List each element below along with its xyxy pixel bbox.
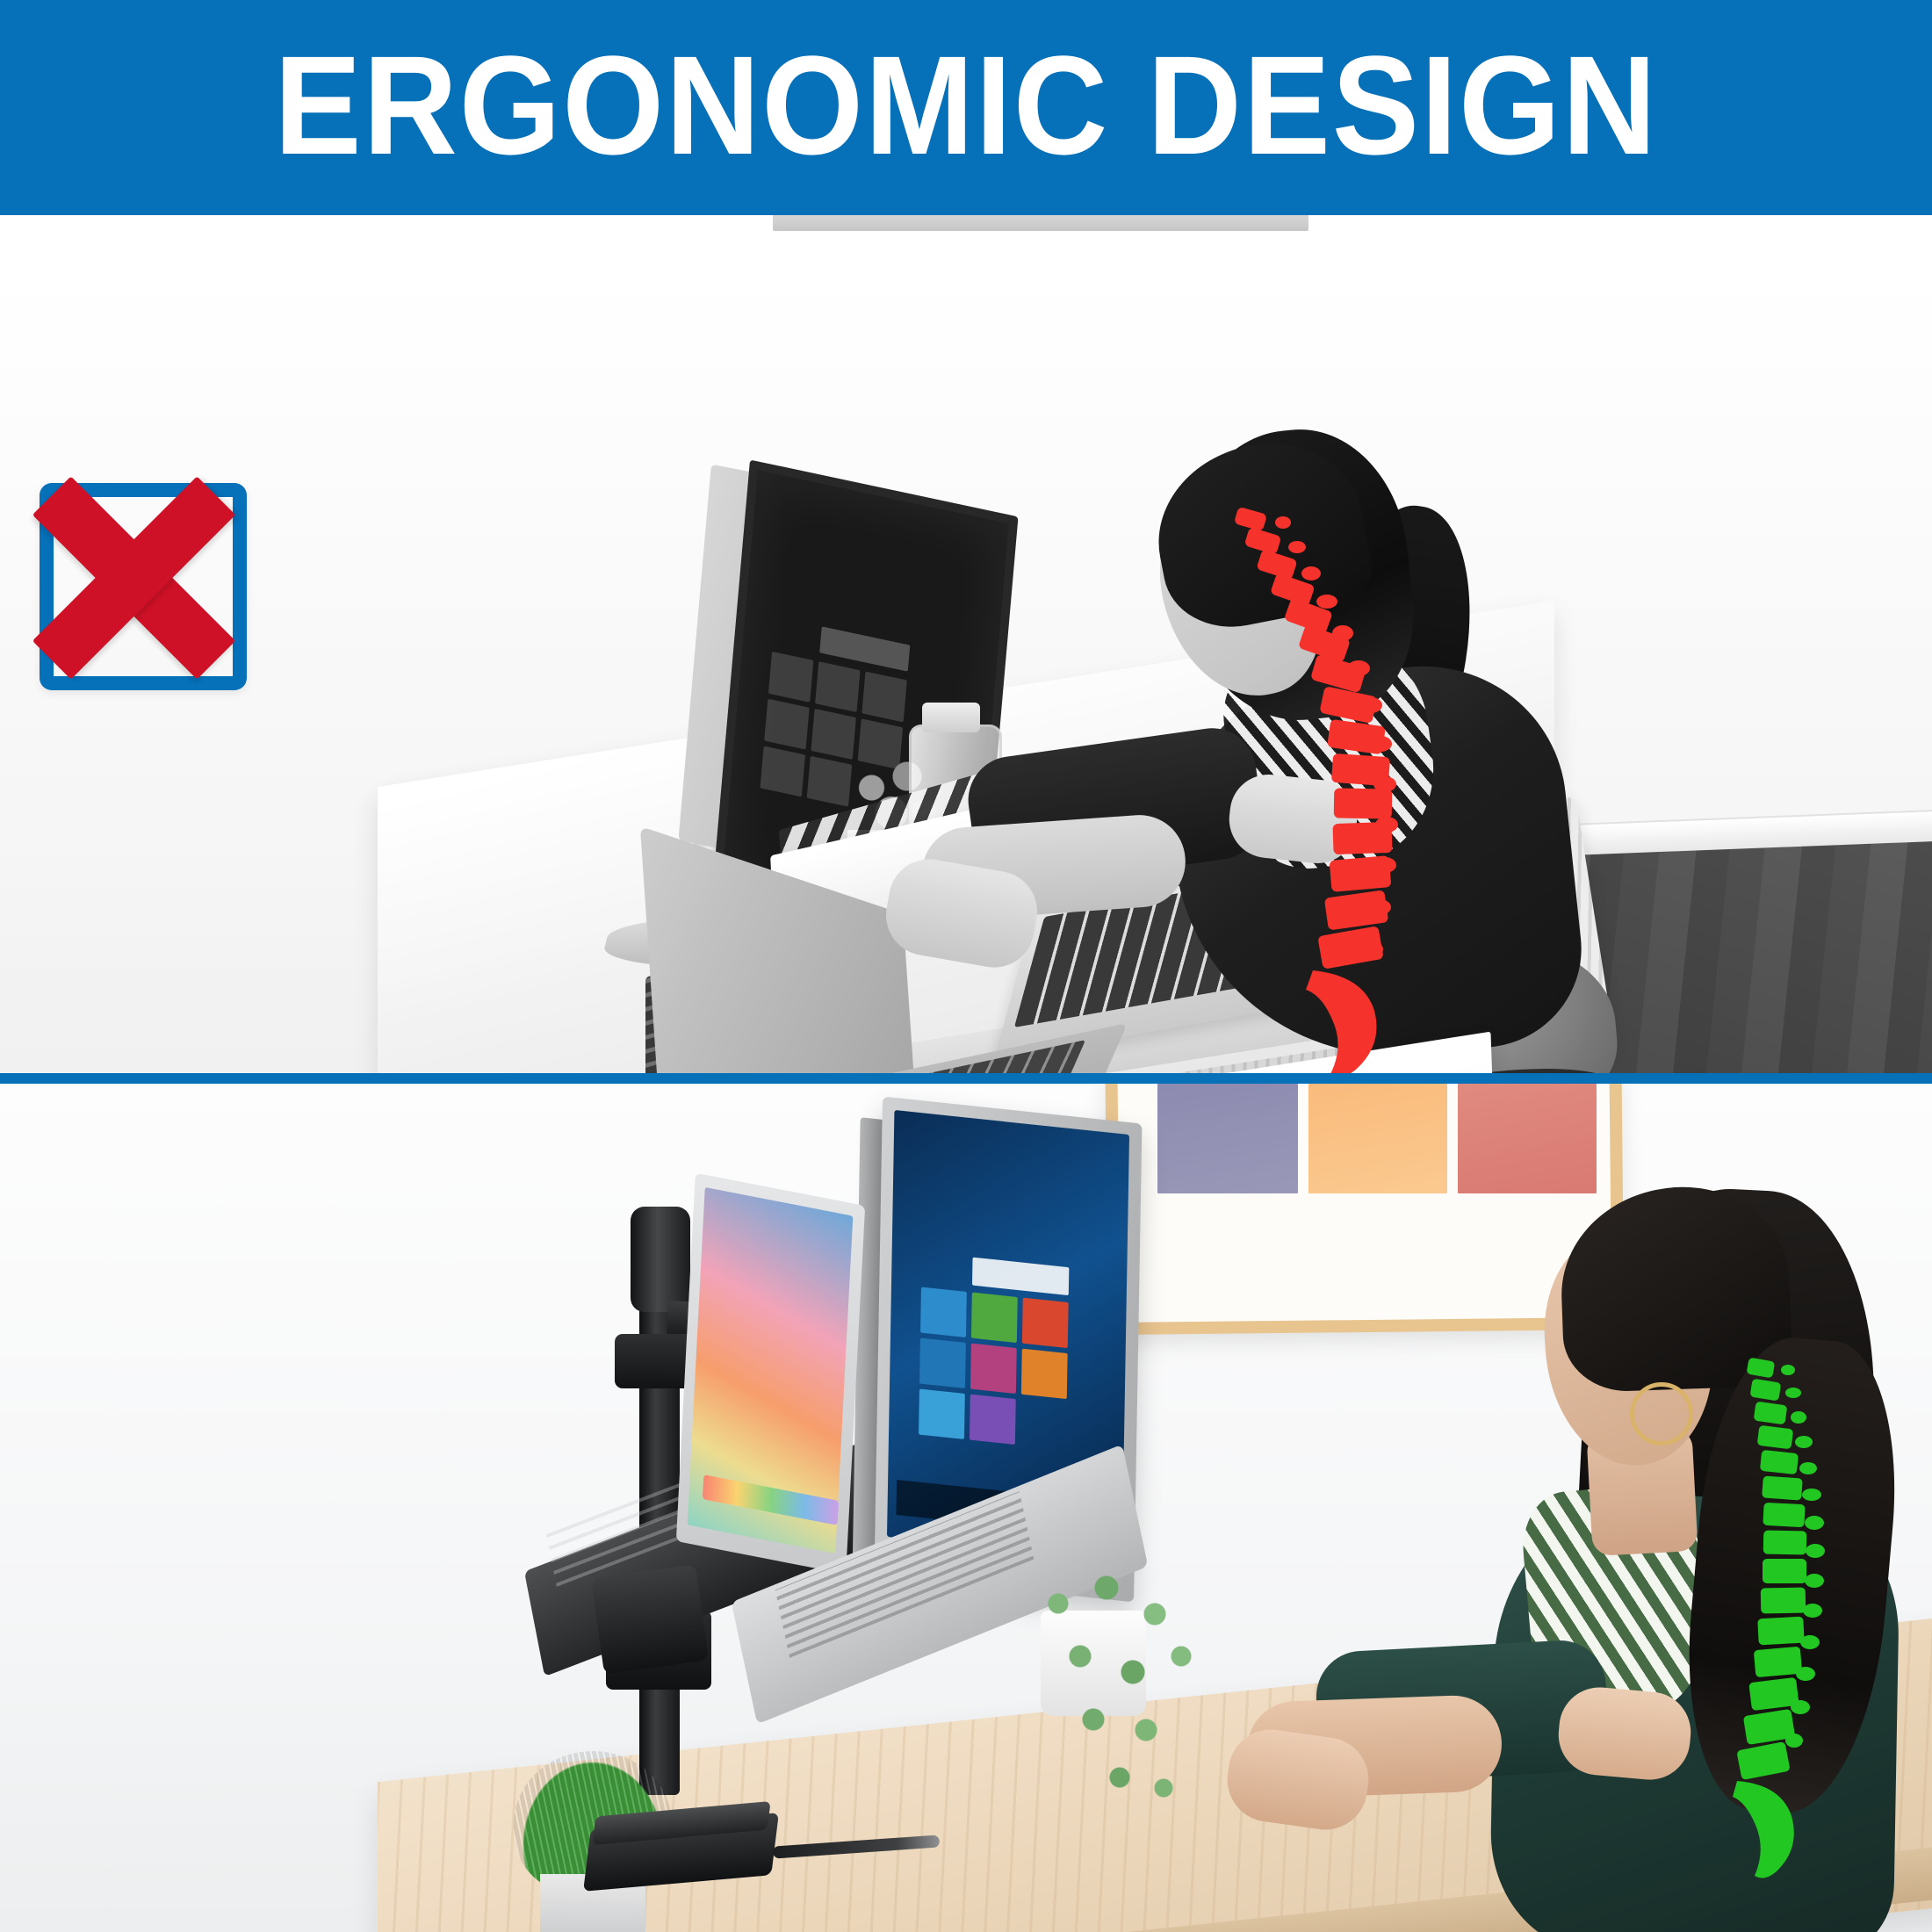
panel-divider [0,1073,1932,1084]
header-banner: ERGONOMIC DESIGN [0,0,1932,215]
panel-bad-posture [0,215,1932,1073]
spine-icon-red [1225,505,1515,1073]
hoop-earring [1630,1382,1693,1445]
page-title: ERGONOMIC DESIGN [274,35,1658,176]
infographic-root: ERGONOMIC DESIGN [0,0,1932,1932]
photo-bad-posture [0,215,1932,1073]
water-bottle-cap [922,703,980,732]
x-mark-icon [9,452,259,703]
art-swatch-purple [1157,1084,1298,1193]
photo-good-posture: Westways [0,1084,1932,1932]
mount-pole-top [631,1207,690,1312]
wall-board [773,215,1308,231]
tray-tilt-joint [591,1564,709,1675]
panel-good-posture: Westways [0,1084,1932,1932]
spine-icon-green [1712,1356,1932,1900]
art-swatch-orange [1308,1084,1447,1193]
trailing-plant [1019,1567,1238,1830]
person-hand-right [1555,1684,1694,1784]
art-swatch-coral [1458,1084,1597,1193]
